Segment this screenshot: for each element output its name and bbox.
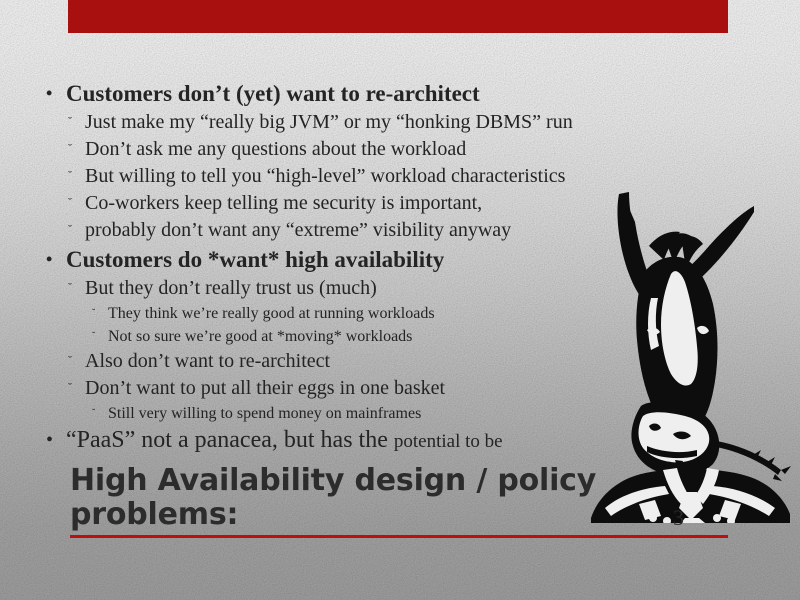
- bullet-text: Don’t want to put all their eggs in one …: [85, 377, 445, 399]
- bullet-marker-icon: ˘: [68, 274, 72, 301]
- bullet-marker-icon: •: [46, 425, 53, 456]
- bullet-line-level-2: ˘Don’t want to put all their eggs in one…: [0, 375, 800, 402]
- bullet-text: Customers don’t (yet) want to re-archite…: [66, 81, 480, 106]
- bullet-line-level-3: ˘Not so sure we’re good at *moving* work…: [0, 325, 800, 348]
- bullet-marker-icon: ˘: [68, 374, 72, 401]
- bullet-line-level-2: ˘Don’t ask me any questions about the wo…: [0, 136, 800, 163]
- slide-title: High Availability design / policy proble…: [70, 464, 670, 532]
- bullet-text: “PaaS” not a panacea, but has the: [66, 427, 394, 453]
- bullet-text: Customers do *want* high availability: [66, 247, 444, 272]
- bullet-text: Still very willing to spend money on mai…: [108, 405, 421, 422]
- bullet-line-level-2: ˘But willing to tell you “high-level” wo…: [0, 163, 800, 190]
- bullet-line-level-2: ˘But they don’t really trust us (much): [0, 275, 800, 302]
- bullet-line-level-1: •“PaaS” not a panacea, but has the poten…: [0, 425, 800, 457]
- bullet-marker-icon: ˘: [68, 108, 72, 135]
- bullet-text-small-run: potential to be: [394, 431, 503, 452]
- bullet-marker-icon: ˘: [92, 402, 95, 425]
- red-title-bar: [68, 0, 728, 33]
- bullet-marker-icon: ˘: [68, 189, 72, 216]
- bullet-text: They think we’re really good at running …: [108, 305, 435, 322]
- bullet-text: probably don’t want any “extreme” visibi…: [85, 219, 511, 241]
- red-underline-rule: [70, 535, 728, 538]
- bullet-text: Just make my “really big JVM” or my “hon…: [85, 111, 573, 133]
- slide-title-line-1: High Availability design / policy: [70, 464, 670, 498]
- bullet-text: But they don’t really trust us (much): [85, 277, 377, 299]
- bullet-text: Also don’t want to re-architect: [85, 350, 330, 372]
- bullet-marker-icon: ˘: [92, 302, 95, 325]
- bullet-line-level-3: ˘Still very willing to spend money on ma…: [0, 402, 800, 425]
- bullet-line-level-1: •Customers don’t (yet) want to re-archit…: [0, 78, 800, 109]
- bullet-line-level-2: ˘probably don’t want any “extreme” visib…: [0, 217, 800, 244]
- bullet-line-level-2: ˘Co-workers keep telling me security is …: [0, 190, 800, 217]
- bullet-marker-icon: ˘: [68, 347, 72, 374]
- bullet-text: Not so sure we’re good at *moving* workl…: [108, 328, 412, 345]
- bullet-marker-icon: •: [46, 78, 52, 109]
- slide-title-line-2: problems:: [70, 498, 670, 532]
- bullet-marker-icon: ˘: [68, 135, 72, 162]
- bullet-line-level-2: ˘Also don’t want to re-architect: [0, 348, 800, 375]
- bullet-marker-icon: ˘: [92, 325, 95, 348]
- bullet-line-level-3: ˘They think we’re really good at running…: [0, 302, 800, 325]
- bullet-marker-icon: •: [46, 244, 52, 275]
- bullet-text: Co-workers keep telling me security is i…: [85, 192, 482, 214]
- bullet-text: Don’t ask me any questions about the wor…: [85, 138, 466, 160]
- bullet-line-level-1: •Customers do *want* high availability: [0, 244, 800, 275]
- slide-canvas: •Customers don’t (yet) want to re-archit…: [0, 0, 800, 600]
- bullet-text: But willing to tell you “high-level” wor…: [85, 165, 565, 187]
- slide-number: 3: [673, 505, 684, 531]
- bullet-marker-icon: ˘: [68, 162, 72, 189]
- bullet-list: •Customers don’t (yet) want to re-archit…: [0, 78, 800, 457]
- bullet-line-level-2: ˘Just make my “really big JVM” or my “ho…: [0, 109, 800, 136]
- bullet-marker-icon: ˘: [68, 216, 72, 243]
